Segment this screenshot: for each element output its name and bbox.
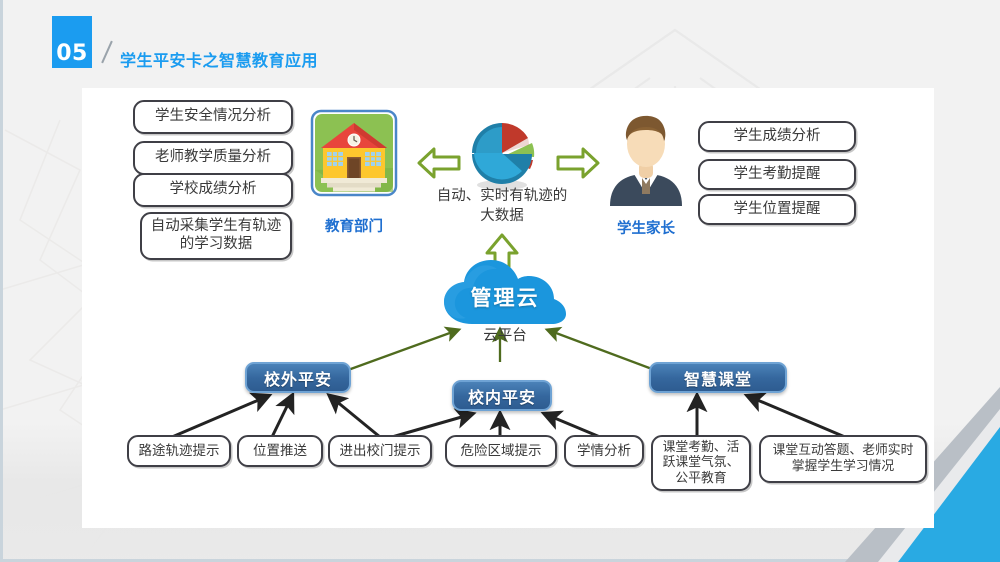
banner-on-campus-safety[interactable]: 校内平安: [452, 380, 552, 411]
bottom-box-2[interactable]: 位置推送: [237, 435, 323, 467]
arrow-right-outline-icon: [556, 145, 600, 181]
parent-avatar-icon: [608, 110, 684, 206]
left-edge-line: [0, 0, 3, 562]
slide-root: 05 学生平安卡之智慧教育应用: [0, 0, 1000, 562]
cloud-text: 管理云: [442, 282, 568, 312]
center-bigdata-label: 自动、实时有轨迹的 大数据: [428, 187, 576, 226]
left-box-1[interactable]: 学生安全情况分析: [133, 100, 293, 134]
bottom-box-4[interactable]: 危险区域提示: [445, 435, 557, 467]
bottom-box-5[interactable]: 学情分析: [564, 435, 644, 467]
left-box-4[interactable]: 自动采集学生有轨迹 的学习数据: [140, 212, 292, 260]
right-box-1[interactable]: 学生成绩分析: [698, 121, 856, 152]
arrow-left-outline-icon: [417, 145, 461, 181]
right-box-3[interactable]: 学生位置提醒: [698, 194, 856, 225]
education-dept-label: 教育部门: [311, 215, 397, 236]
pie-chart-3d-icon: [466, 113, 538, 191]
bottom-box-7[interactable]: 课堂互动答题、老师实时 掌握学生学习情况: [759, 435, 927, 483]
section-number: 05: [52, 16, 92, 68]
page-title: 学生平安卡之智慧教育应用: [120, 47, 318, 71]
bottom-box-3[interactable]: 进出校门提示: [328, 435, 432, 467]
bottom-box-6[interactable]: 课堂考勤、活 跃课堂气氛、 公平教育: [651, 435, 751, 491]
slash-divider-icon: [100, 40, 122, 64]
banner-smart-classroom[interactable]: 智慧课堂: [649, 362, 787, 393]
parent-label: 学生家长: [601, 217, 691, 238]
school-building-icon: [311, 110, 397, 196]
banner-off-campus-safety[interactable]: 校外平安: [245, 362, 351, 393]
bottom-box-1[interactable]: 路途轨迹提示: [127, 435, 231, 467]
left-box-3[interactable]: 学校成绩分析: [133, 173, 293, 207]
left-box-2[interactable]: 老师教学质量分析: [133, 141, 293, 175]
right-box-2[interactable]: 学生考勤提醒: [698, 159, 856, 190]
cloud-platform-label: 云平台: [442, 324, 568, 345]
